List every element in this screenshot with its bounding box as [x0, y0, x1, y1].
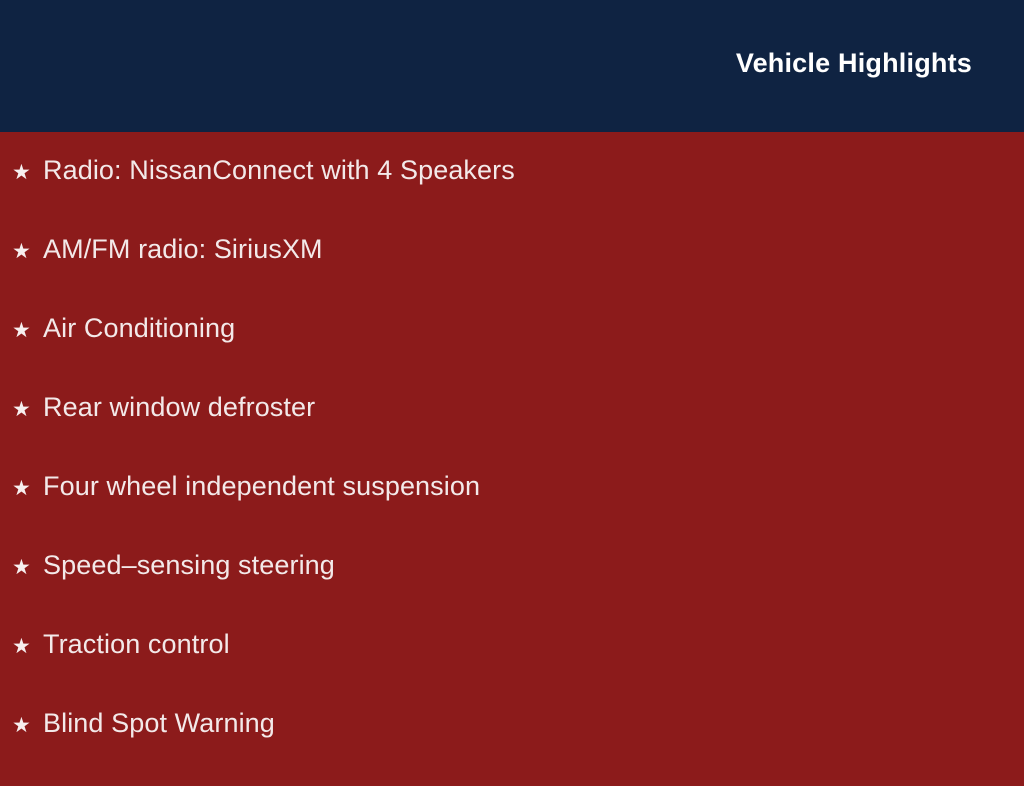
star-bullet-icon: ★: [12, 158, 43, 188]
list-item: ★ Blind Spot Warning: [0, 707, 1024, 786]
list-item: ★ Air Conditioning: [0, 312, 1024, 391]
star-bullet-icon: ★: [12, 711, 43, 741]
star-bullet-icon: ★: [12, 316, 43, 346]
list-item-label: AM/FM radio: SiriusXM: [43, 233, 323, 265]
list-item-label: Speed–sensing steering: [43, 549, 335, 581]
list-item: ★ Traction control: [0, 628, 1024, 707]
star-bullet-icon: ★: [12, 553, 43, 583]
list-item-label: Air Conditioning: [43, 312, 235, 344]
list-item-label: Rear window defroster: [43, 391, 315, 423]
list-item: ★ Rear window defroster: [0, 391, 1024, 470]
list-item: ★ Four wheel independent suspension: [0, 470, 1024, 549]
list-item: ★ Radio: NissanConnect with 4 Speakers: [0, 154, 1024, 233]
star-bullet-icon: ★: [12, 632, 43, 662]
list-item-label: Four wheel independent suspension: [43, 470, 480, 502]
list-item-label: Blind Spot Warning: [43, 707, 275, 739]
highlights-list: ★ Radio: NissanConnect with 4 Speakers ★…: [0, 132, 1024, 768]
page-title: Vehicle Highlights: [736, 46, 972, 80]
slide-header-bar: Vehicle Highlights: [0, 0, 1024, 132]
star-bullet-icon: ★: [12, 395, 43, 425]
star-bullet-icon: ★: [12, 474, 43, 504]
list-item: ★ Speed–sensing steering: [0, 549, 1024, 628]
list-item-label: Traction control: [43, 628, 230, 660]
list-item: ★ AM/FM radio: SiriusXM: [0, 233, 1024, 312]
vehicle-highlights-slide: Vehicle Highlights ★ Radio: NissanConnec…: [0, 0, 1024, 768]
list-item-label: Radio: NissanConnect with 4 Speakers: [43, 154, 515, 186]
star-bullet-icon: ★: [12, 237, 43, 267]
